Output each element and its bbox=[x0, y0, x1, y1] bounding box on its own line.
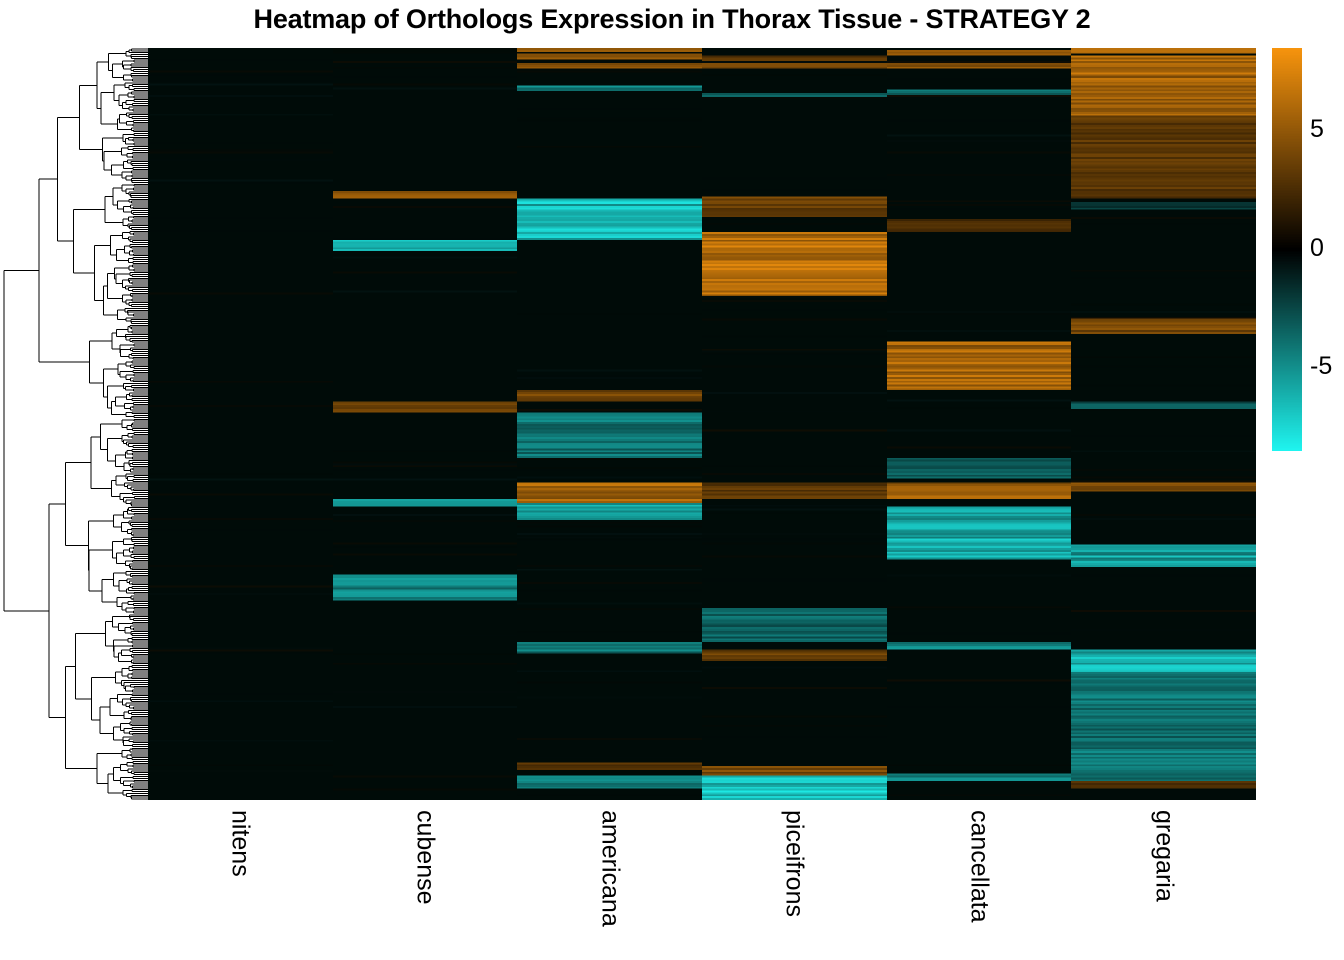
heatmap-column-piceifrons bbox=[702, 48, 887, 800]
colorbar-tick-0: 0 bbox=[1310, 236, 1324, 261]
column-label-gregaria: gregaria bbox=[1151, 810, 1176, 902]
column-label-wrap-americana: americana bbox=[517, 802, 702, 960]
dendrogram-branches bbox=[4, 49, 148, 799]
column-label-nitens: nitens bbox=[228, 810, 253, 877]
colorbar-tick-5: 5 bbox=[1310, 117, 1324, 142]
column-label-wrap-cubense: cubense bbox=[333, 802, 518, 960]
column-label-americana: americana bbox=[597, 810, 622, 927]
colorbar-tick-minus5: -5 bbox=[1310, 354, 1332, 379]
row-dendrogram bbox=[0, 48, 148, 800]
heatmap-grid bbox=[148, 48, 1256, 800]
page-title: Heatmap of Orthologs Expression in Thora… bbox=[0, 4, 1344, 35]
column-label-cubense: cubense bbox=[412, 810, 437, 905]
column-label-wrap-gregaria: gregaria bbox=[1071, 802, 1256, 960]
heatmap-column-gregaria bbox=[1071, 48, 1256, 800]
heatmap-column-nitens bbox=[148, 48, 333, 800]
heatmap-column-cancellata bbox=[887, 48, 1072, 800]
heatmap-column-canvas bbox=[517, 48, 702, 800]
colorbar bbox=[1272, 48, 1302, 451]
column-label-wrap-nitens: nitens bbox=[148, 802, 333, 960]
column-label-cancellata: cancellata bbox=[966, 810, 991, 923]
dendrogram-svg bbox=[0, 48, 148, 800]
heatmap-column-canvas bbox=[1071, 48, 1256, 800]
colorbar-gradient bbox=[1272, 48, 1302, 451]
heatmap-column-canvas bbox=[887, 48, 1072, 800]
column-label-piceifrons: piceifrons bbox=[782, 810, 807, 917]
heatmap-column-canvas bbox=[702, 48, 887, 800]
column-label-wrap-piceifrons: piceifrons bbox=[702, 802, 887, 960]
heatmap-column-cubense bbox=[333, 48, 518, 800]
column-label-wrap-cancellata: cancellata bbox=[887, 802, 1072, 960]
heatmap-column-canvas bbox=[148, 48, 333, 800]
heatmap-column-canvas bbox=[333, 48, 518, 800]
heatmap-column-americana bbox=[517, 48, 702, 800]
column-labels: nitenscubenseamericanapiceifronscancella… bbox=[148, 802, 1256, 960]
